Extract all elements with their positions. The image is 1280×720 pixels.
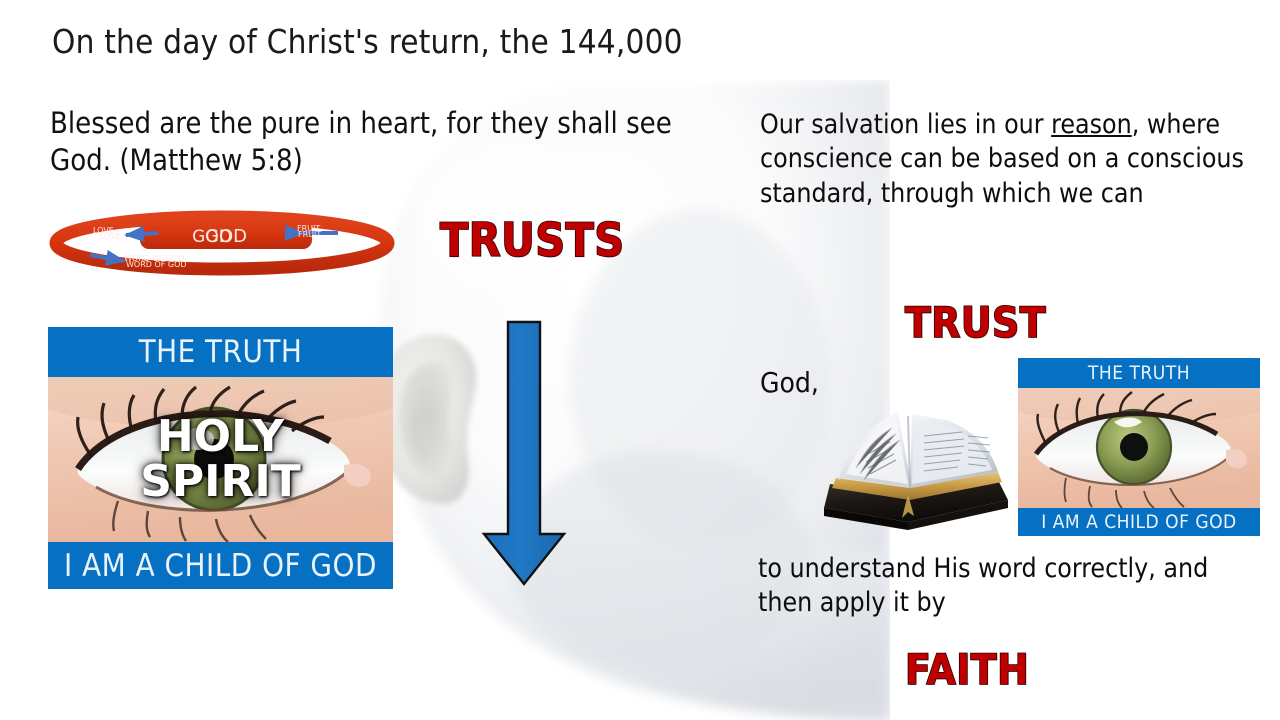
- trust-label: TRUST: [905, 298, 1046, 347]
- right-paragraph-part1: Our salvation lies in our: [760, 109, 1051, 140]
- god-line: God,: [760, 366, 819, 399]
- cycle-left-label: LOVE: [93, 226, 114, 235]
- god-cycle-diagram: GOD LOVE FRUIT WORD OF GOD GOD LOVE FRUI…: [48, 205, 396, 277]
- eye-card-footer: I AM A CHILD OF GOD: [48, 542, 393, 589]
- cycle-bottom-label: WORD OF GOD: [124, 254, 185, 263]
- cycle-right-label: FRUIT: [297, 224, 320, 233]
- right-paragraph: Our salvation lies in our reason, where …: [760, 108, 1260, 211]
- eye-photo-small: [1018, 388, 1260, 508]
- eye-card-header: THE TRUTH: [48, 327, 393, 377]
- slide-canvas: On the day of Christ's return, the 144,0…: [0, 0, 1280, 720]
- cycle-center-label-text: GOD: [126, 227, 298, 247]
- eye-card-small-footer: I AM A CHILD OF GOD: [1018, 508, 1260, 536]
- eye-photo: HOLY SPIRIT: [48, 377, 393, 542]
- faith-label: FAITH: [905, 645, 1029, 694]
- eye-card-truth-small[interactable]: THE TRUTH: [1018, 358, 1260, 536]
- open-bible-image: [812, 396, 1017, 546]
- down-arrow-icon: [478, 318, 578, 590]
- bottom-paragraph: to understand His word correctly, and th…: [758, 552, 1258, 620]
- eye-card-holy-spirit[interactable]: THE TRUTH: [48, 327, 393, 589]
- slide-title: On the day of Christ's return, the 144,0…: [52, 22, 812, 61]
- scripture-verse: Blessed are the pure in heart, for they …: [50, 105, 730, 179]
- eye-card-small-header: THE TRUTH: [1018, 358, 1260, 388]
- reason-underlined: reason: [1051, 109, 1132, 140]
- trusts-label: TRUSTS: [440, 213, 625, 267]
